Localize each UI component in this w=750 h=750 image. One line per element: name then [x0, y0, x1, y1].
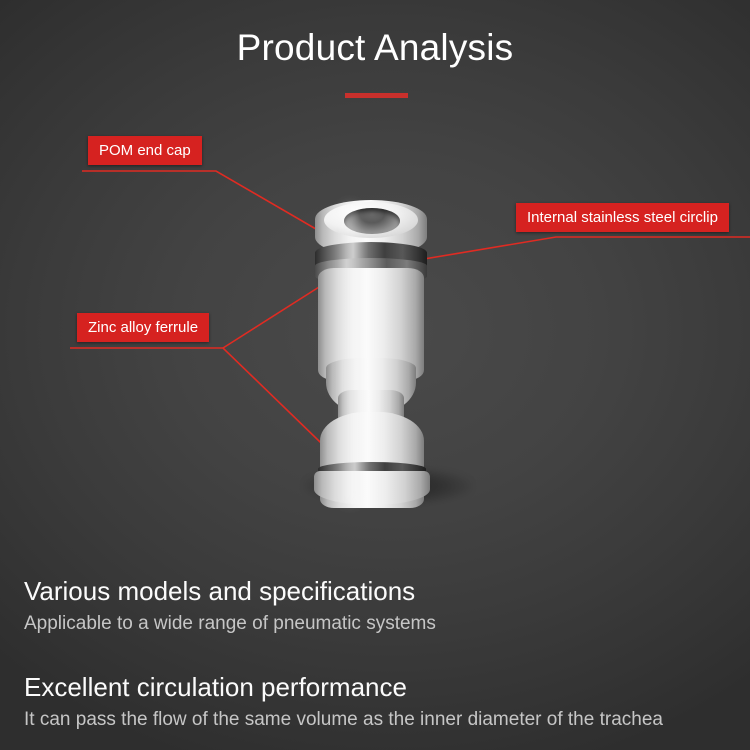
product-image-pneumatic-fitting	[300, 190, 470, 520]
product-analysis-infographic: Product Analysis POM end cap Internal st…	[0, 0, 750, 750]
page-title: Product Analysis	[0, 27, 750, 69]
callout-badge-internal-stainless-steel-circlip[interactable]: Internal stainless steel circlip	[516, 203, 729, 232]
product-specular-highlight	[340, 204, 360, 504]
callout-badge-zinc-alloy-ferrule[interactable]: Zinc alloy ferrule	[77, 313, 209, 342]
feature-subtext-2: It can pass the flow of the same volume …	[24, 709, 663, 731]
feature-heading-2: Excellent circulation performance	[24, 672, 407, 703]
title-underline-rule	[345, 93, 408, 98]
feature-subtext-1: Applicable to a wide range of pneumatic …	[24, 613, 436, 635]
product-part-bottom-end-cap	[314, 471, 430, 505]
callout-badge-pom-end-cap[interactable]: POM end cap	[88, 136, 202, 165]
feature-heading-1: Various models and specifications	[24, 576, 415, 607]
